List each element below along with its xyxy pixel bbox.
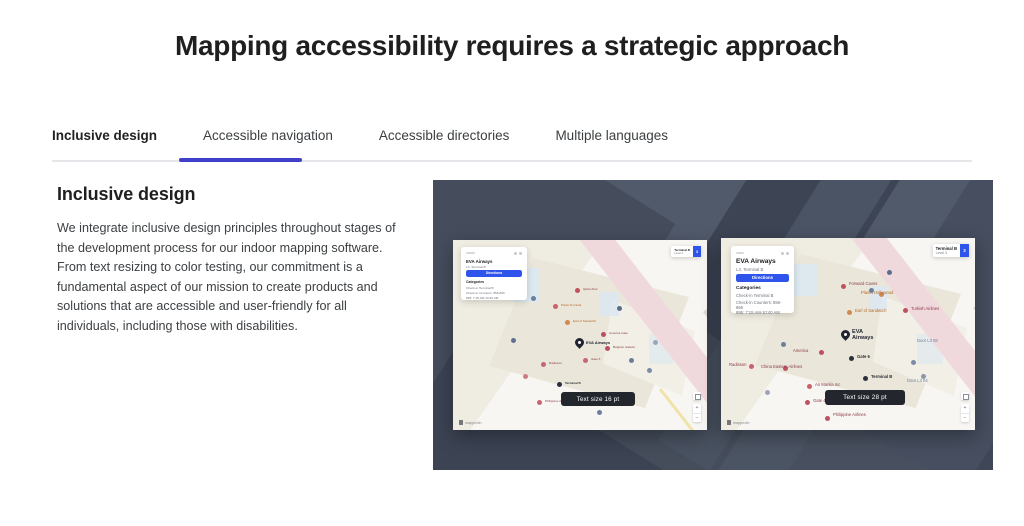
map-poi[interactable] <box>841 284 846 289</box>
map-poi-label: Door L3 04 <box>907 378 928 383</box>
map-poi-label: Gate 4 <box>813 398 826 403</box>
map-location-pin[interactable] <box>575 338 584 349</box>
panel-controls[interactable] <box>781 252 790 255</box>
map-poi[interactable] <box>869 288 874 293</box>
text-size-caption: Text size 16 pt <box>561 392 635 406</box>
pin-dot <box>578 341 581 344</box>
map-poi[interactable] <box>565 320 570 325</box>
map-poi[interactable] <box>807 384 812 389</box>
back-icon[interactable] <box>466 252 475 254</box>
map-poi[interactable] <box>601 332 606 337</box>
map-poi[interactable] <box>849 356 854 361</box>
poi-info-panel[interactable]: EVA Airways L3, Terminal B Directions Ca… <box>731 246 794 313</box>
info-subtitle: L3, Terminal B <box>736 267 763 272</box>
map-poi[interactable] <box>647 368 652 373</box>
mappedin-logo: mappedin <box>459 420 482 425</box>
map-poi[interactable] <box>557 382 562 387</box>
back-icon[interactable] <box>736 252 744 254</box>
map-poi[interactable] <box>887 270 892 275</box>
map-location-pin[interactable] <box>841 330 850 341</box>
close-icon[interactable] <box>786 252 789 255</box>
map-water <box>793 264 817 296</box>
zoom-in-button[interactable]: + <box>961 404 969 413</box>
map-poi-label: Gate 6 <box>857 354 870 359</box>
map-poi[interactable] <box>911 360 916 365</box>
tab-accessible-navigation[interactable]: Accessible navigation <box>203 128 333 158</box>
share-icon[interactable] <box>514 252 517 255</box>
map-water <box>599 292 619 316</box>
zoom-in-button[interactable]: + <box>693 404 701 413</box>
map-poi-label: Turkish Airlines <box>911 306 939 311</box>
terminal-selector[interactable]: Terminal B Level 3 3 <box>933 244 969 257</box>
zoom-controls[interactable]: + − <box>693 404 701 422</box>
info-detail-1: Check-in Counters: 856-866 <box>466 291 505 295</box>
map-poi[interactable] <box>805 400 810 405</box>
terminal-selector-text: Terminal B Level 3 <box>933 244 960 257</box>
panel-controls[interactable] <box>514 252 523 255</box>
map-poi[interactable] <box>553 304 558 309</box>
tab-bar: Inclusive design Accessible navigation A… <box>52 128 972 162</box>
directions-button[interactable]: Directions <box>736 274 789 282</box>
level-badge[interactable]: 3 <box>693 246 701 257</box>
map-poi-label: America Gate <box>609 331 628 335</box>
level-badge[interactable]: 3 <box>960 244 969 257</box>
map-poi-label: China Eastern Airlines <box>761 365 802 369</box>
panel-body: We integrate inclusive design principles… <box>57 219 402 336</box>
map-poi-label: Plaza Terminal <box>561 303 581 307</box>
map-poi-label: Door L3 08 <box>917 338 938 343</box>
map-poi[interactable] <box>819 350 824 355</box>
map-poi[interactable] <box>617 306 622 311</box>
zoom-out-button[interactable]: − <box>961 413 969 423</box>
map-card-small-text[interactable]: Qatar Airw Plaza Terminal Earl of Sandwi… <box>453 240 707 430</box>
map-poi[interactable] <box>541 362 546 367</box>
map-poi[interactable] <box>523 374 528 379</box>
info-category: Check-in Terminal B <box>736 293 773 298</box>
map-poi-label: Earl of Sandwich <box>855 308 886 313</box>
info-detail-3: 895: 7:15 AM-10:40 AM <box>736 310 780 315</box>
zoom-controls[interactable]: + − <box>961 404 969 422</box>
map-poi[interactable] <box>537 400 542 405</box>
map-poi-label: Air Manila Inc <box>815 382 840 387</box>
tab-active-indicator <box>179 158 302 162</box>
map-poi[interactable] <box>863 376 868 381</box>
map-poi[interactable] <box>605 346 610 351</box>
map-poi-label: Belgium Galerie <box>613 345 635 349</box>
info-detail-2: 895: 7:15 AM-10:40 AM <box>466 296 498 300</box>
mappedin-logo: mappedin <box>727 420 750 425</box>
terminal-level: Level 3 <box>936 251 957 255</box>
map-pin-label-line2: Airways <box>852 336 873 342</box>
map-poi-label: Terminal B <box>565 381 581 385</box>
logo-text: mappedin <box>465 421 482 425</box>
panel-heading: Inclusive design <box>57 184 402 205</box>
map-card-large-text[interactable]: Forward Caves Planet Hollywood Earl of S… <box>721 238 975 430</box>
page-root: Mapping accessibility requires a strateg… <box>0 0 1024 526</box>
terminal-selector[interactable]: Terminal B Level 3 3 <box>671 246 701 257</box>
map-poi-label: Terminal B <box>871 374 892 379</box>
map-poi-label: Earl of Sandwich <box>573 319 596 323</box>
map-poi-label: Qatar Airw <box>583 287 597 291</box>
tab-multiple-languages[interactable]: Multiple languages <box>555 128 668 158</box>
map-poi-label: Radisson <box>729 362 746 367</box>
map-poi[interactable] <box>921 374 926 379</box>
terminal-level: Level 3 <box>674 252 690 255</box>
tab-accessible-directories[interactable]: Accessible directories <box>379 128 510 158</box>
map-poi[interactable] <box>847 310 852 315</box>
map-poi[interactable] <box>583 358 588 363</box>
info-title: EVA Airways <box>466 259 492 264</box>
fullscreen-button[interactable] <box>693 392 701 400</box>
map-poi[interactable] <box>629 358 634 363</box>
map-poi-label: Gate 6 <box>591 357 600 361</box>
info-section-title: Categories <box>466 280 484 284</box>
poi-info-panel[interactable]: EVA Airways L3, Terminal B Directions Ca… <box>461 247 527 300</box>
terminal-selector-text: Terminal B Level 3 <box>671 246 693 257</box>
directions-button[interactable]: Directions <box>466 270 522 277</box>
map-poi[interactable] <box>653 340 658 345</box>
map-poi[interactable] <box>597 410 602 415</box>
logo-mark-icon <box>727 420 731 425</box>
map-poi[interactable] <box>825 416 830 421</box>
share-icon[interactable] <box>781 252 784 255</box>
info-section-title: Categories <box>736 286 761 291</box>
content-panel: Inclusive design We integrate inclusive … <box>57 184 402 336</box>
logo-mark-icon <box>459 420 463 425</box>
info-title: EVA Airways <box>736 258 776 265</box>
info-subtitle: L3, Terminal B <box>466 265 486 269</box>
map-poi[interactable] <box>765 390 770 395</box>
map-pin-label: EVA Airways <box>586 341 610 345</box>
page-title: Mapping accessibility requires a strateg… <box>0 30 1024 62</box>
map-poi[interactable] <box>575 288 580 293</box>
text-size-caption: Text size 28 pt <box>825 390 905 405</box>
info-category: Check-in Terminal B <box>466 286 494 290</box>
tab-inclusive-design[interactable]: Inclusive design <box>52 128 157 158</box>
pin-dot <box>844 333 847 336</box>
map-poi-label: Planet Hollywood <box>861 290 893 295</box>
media-showcase: Qatar Airw Plaza Terminal Earl of Sandwi… <box>433 180 993 470</box>
map-poi[interactable] <box>531 296 536 301</box>
logo-text: mappedin <box>733 421 750 425</box>
map-poi-label: America <box>793 348 808 353</box>
map-poi[interactable] <box>511 338 516 343</box>
map-poi-label: Forward Caves <box>849 282 877 286</box>
map-poi[interactable] <box>781 342 786 347</box>
map-poi[interactable] <box>749 364 754 369</box>
map-poi-label: Radisson <box>549 361 562 365</box>
fullscreen-button[interactable] <box>961 392 969 400</box>
close-icon[interactable] <box>519 252 522 255</box>
map-poi-label: Philippine Airlines <box>833 413 866 417</box>
map-poi[interactable] <box>903 308 908 313</box>
zoom-out-button[interactable]: − <box>693 413 701 423</box>
